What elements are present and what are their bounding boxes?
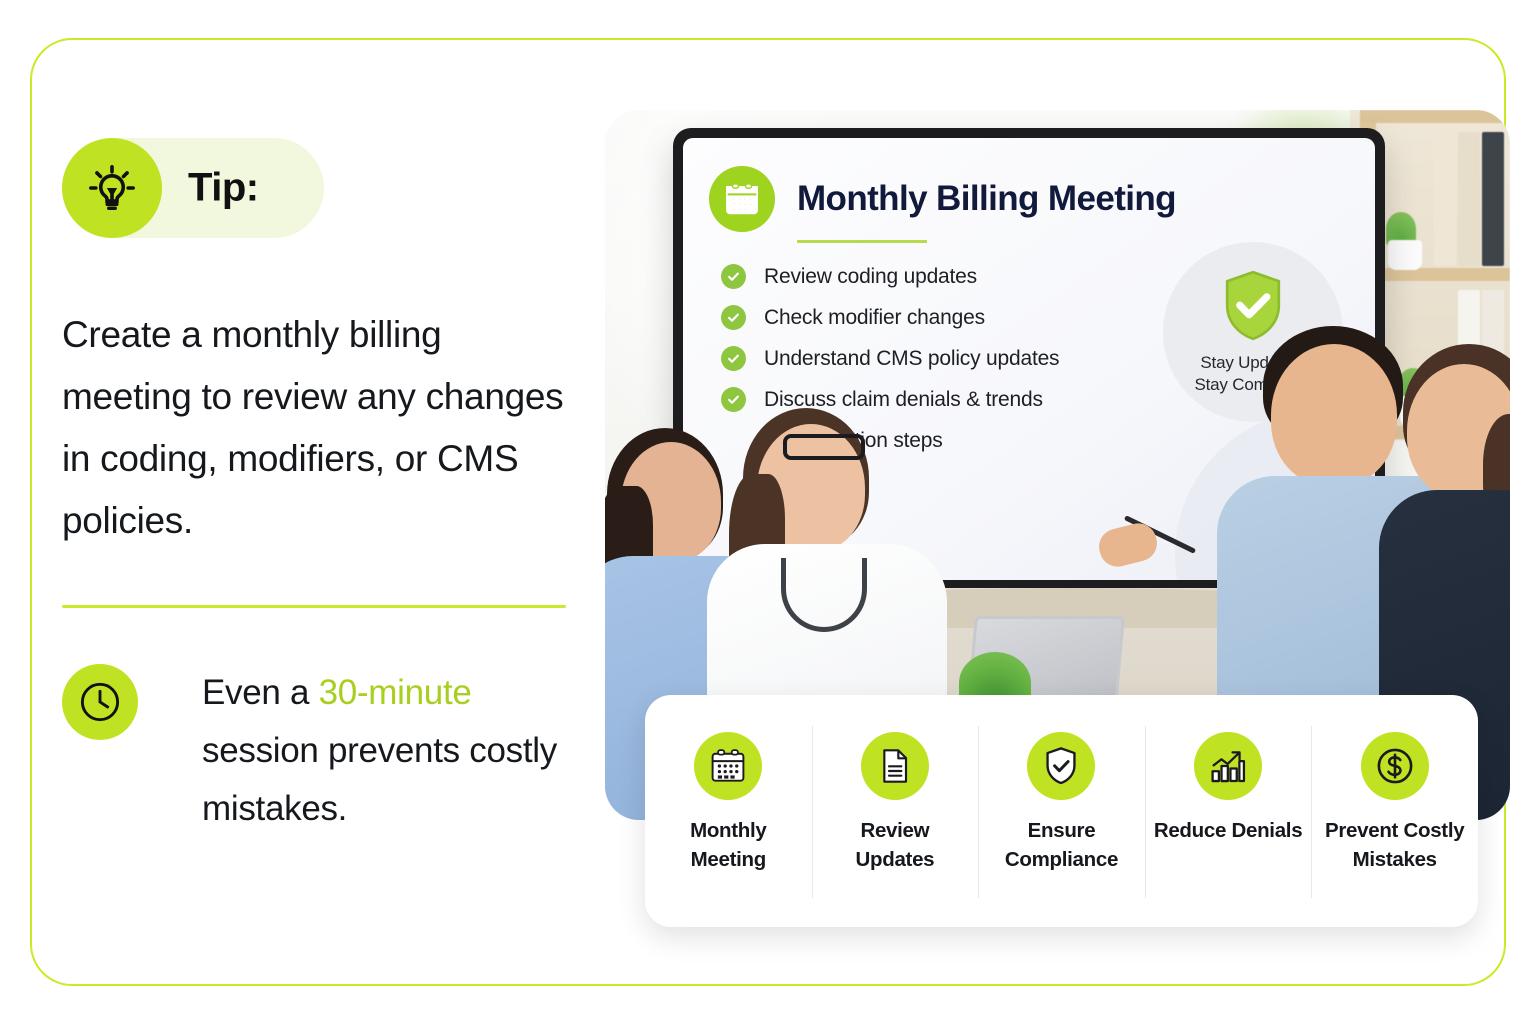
feature-label: Review Updates	[820, 816, 970, 874]
check-icon	[721, 264, 746, 289]
document-icon	[861, 732, 929, 800]
dollar-circle-icon	[1361, 732, 1429, 800]
feature-strip: Monthly Meeting Review Updates Ensure Co…	[645, 695, 1478, 927]
feature-item-prevent-costly-mistakes[interactable]: Prevent Costly Mistakes	[1311, 732, 1478, 890]
clock-icon	[62, 664, 138, 740]
feature-item-reduce-denials[interactable]: Reduce Denials	[1145, 732, 1312, 890]
left-content-column: Tip: Create a monthly billing meeting to…	[62, 138, 572, 838]
lightbulb-icon	[62, 138, 162, 238]
feature-label: Reduce Denials	[1154, 816, 1302, 845]
slide-header: Monthly Billing Meeting	[709, 166, 1176, 232]
check-icon	[721, 305, 746, 330]
tip-pill: Tip:	[62, 138, 324, 238]
slide-bullet-label: Check modifier changes	[764, 306, 985, 330]
note-text: Even a 30-minute session prevents costly…	[202, 662, 572, 838]
infographic-page: Tip: Create a monthly billing meeting to…	[0, 0, 1536, 1024]
slide-bullet-label: Understand CMS policy updates	[764, 347, 1059, 371]
note-text-before: Even a	[202, 673, 319, 712]
feature-label: Prevent Costly Mistakes	[1320, 816, 1470, 874]
tip-label: Tip:	[188, 166, 259, 211]
section-divider	[62, 605, 566, 608]
feature-label: Monthly Meeting	[653, 816, 803, 874]
feature-label: Ensure Compliance	[986, 816, 1136, 874]
slide-bullet: Review coding updates	[721, 264, 1059, 289]
tip-body-text: Create a monthly billing meeting to revi…	[62, 304, 574, 553]
check-icon	[721, 346, 746, 371]
slide-bullet-label: Review coding updates	[764, 265, 977, 289]
slide-title-underline	[797, 240, 927, 243]
slide-bullet: Understand CMS policy updates	[721, 346, 1059, 371]
slide-title: Monthly Billing Meeting	[797, 179, 1176, 219]
note-highlight: 30-minute	[319, 673, 472, 712]
calendar-icon	[694, 732, 762, 800]
bar-chart-up-icon	[1194, 732, 1262, 800]
note-text-after: session prevents costly mistakes.	[202, 731, 557, 828]
note-row: Even a 30-minute session prevents costly…	[62, 662, 572, 838]
feature-item-review-updates[interactable]: Review Updates	[812, 732, 979, 890]
shield-check-icon	[1027, 732, 1095, 800]
slide-bullet: Check modifier changes	[721, 305, 1059, 330]
feature-item-monthly-meeting[interactable]: Monthly Meeting	[645, 732, 812, 890]
calendar-icon	[709, 166, 775, 232]
feature-item-ensure-compliance[interactable]: Ensure Compliance	[978, 732, 1145, 890]
